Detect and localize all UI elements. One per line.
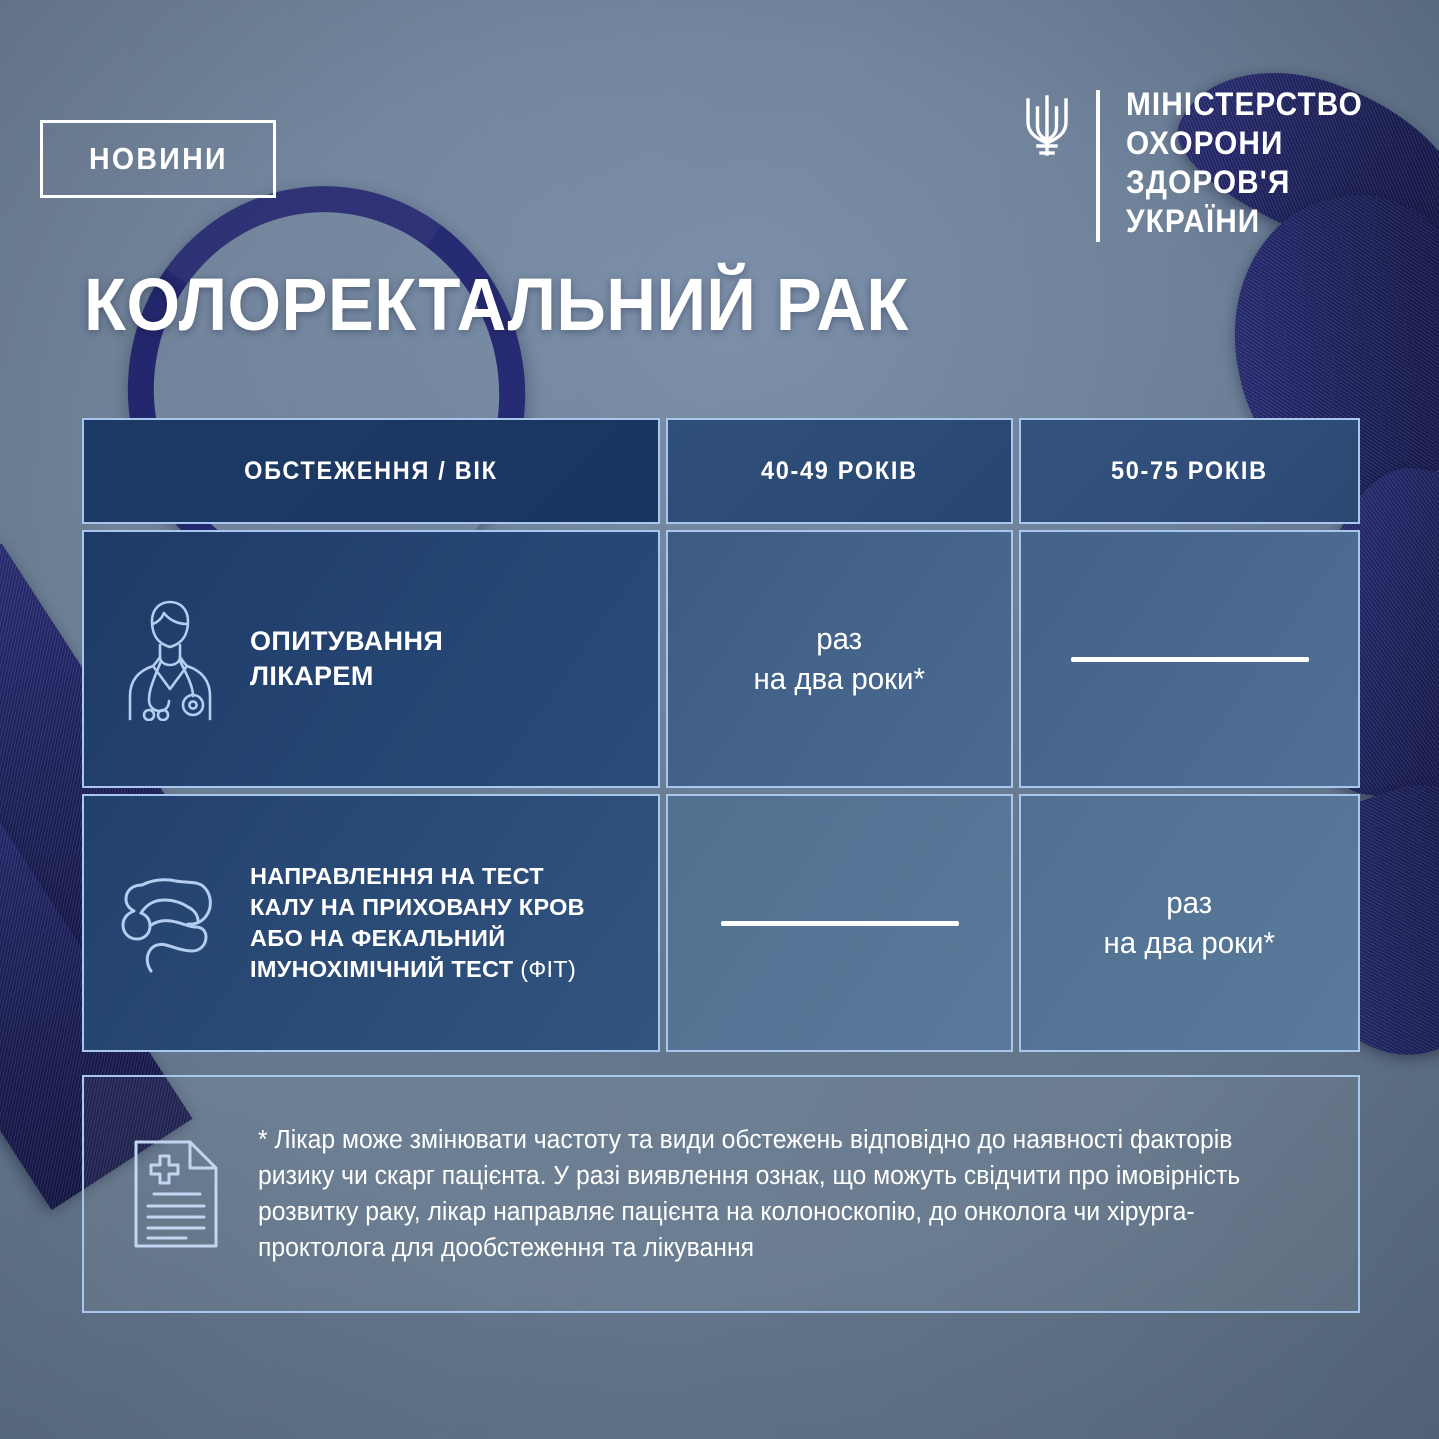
ministry-line-1: МІНІСТЕРСТВО — [1126, 86, 1363, 123]
poster-canvas: НОВИНИ МІНІСТЕРСТВО ОХОРОНИ ЗДОРОВ'Я УКР… — [0, 0, 1439, 1439]
header-cell-examination: ОБСТЕЖЕННЯ / ВІК — [82, 418, 660, 524]
row-2-label-line-1: НАПРАВЛЕННЯ НА ТЕСТ — [250, 863, 544, 889]
table-row: НАПРАВЛЕННЯ НА ТЕСТ КАЛУ НА ПРИХОВАНУ КР… — [82, 794, 1360, 1052]
row-2-value-50-75: раз на два роки* — [1019, 794, 1360, 1052]
header-label-age-40-49: 40-49 РОКІВ — [761, 457, 918, 486]
table-header-row: ОБСТЕЖЕННЯ / ВІК 40-49 РОКІВ 50-75 РОКІВ — [82, 418, 1360, 524]
row-1-examination-cell: ОПИТУВАННЯ ЛІКАРЕМ — [82, 530, 660, 788]
row-1-label-line-2: ЛІКАРЕМ — [250, 661, 374, 691]
row-2-label: НАПРАВЛЕННЯ НА ТЕСТ КАЛУ НА ПРИХОВАНУ КР… — [250, 861, 585, 986]
header-label-examination: ОБСТЕЖЕННЯ / ВІК — [244, 457, 498, 486]
doctor-stethoscope-icon — [116, 597, 224, 721]
row-2-label-line-2: КАЛУ НА ПРИХОВАНУ КРОВ — [250, 894, 585, 920]
header-cell-age-50-75: 50-75 РОКІВ — [1019, 418, 1360, 524]
logo-divider — [1096, 90, 1100, 242]
row-1-value-40-49: раз на два роки* — [666, 530, 1013, 788]
row-1-label: ОПИТУВАННЯ ЛІКАРЕМ — [250, 624, 443, 694]
ministry-line-3: ЗДОРОВ'Я — [1126, 164, 1363, 201]
row-2-frequency-50-75: раз на два роки* — [1104, 883, 1275, 964]
footnote-text: * Лікар може змінювати частоту та види о… — [258, 1122, 1290, 1267]
ministry-line-4: УКРАЇНИ — [1126, 203, 1363, 240]
news-badge-label: НОВИНИ — [89, 141, 228, 177]
intestine-colon-icon — [116, 867, 224, 979]
footnote-box: * Лікар може змінювати частоту та види о… — [82, 1075, 1360, 1313]
row-2-examination-cell: НАПРАВЛЕННЯ НА ТЕСТ КАЛУ НА ПРИХОВАНУ КР… — [82, 794, 660, 1052]
row-1-frequency-40-49: раз на два роки* — [754, 619, 925, 700]
row-1-label-line-1: ОПИТУВАННЯ — [250, 626, 443, 656]
row-2-value-40-49 — [666, 794, 1013, 1052]
header-label-age-50-75: 50-75 РОКІВ — [1111, 457, 1268, 486]
ministry-name: МІНІСТЕРСТВО ОХОРОНИ ЗДОРОВ'Я УКРАЇНИ — [1126, 86, 1381, 240]
row-2-freq-line-2: на два роки* — [1104, 925, 1275, 960]
header-cell-age-40-49: 40-49 РОКІВ — [666, 418, 1013, 524]
ministry-line-2: ОХОРОНИ — [1126, 125, 1363, 162]
row-1-freq-line-2: на два роки* — [754, 661, 925, 696]
row-2-label-line-3: АБО НА ФЕКАЛЬНИЙ — [250, 925, 505, 951]
row-1-dash-50-75 — [1071, 657, 1309, 662]
screening-table: ОБСТЕЖЕННЯ / ВІК 40-49 РОКІВ 50-75 РОКІВ — [82, 418, 1360, 1052]
row-1-freq-line-1: раз — [817, 621, 863, 656]
row-2-dash-40-49 — [721, 921, 959, 926]
page-title: КОЛОРЕКТАЛЬНИЙ РАК — [84, 268, 909, 342]
row-2-label-suffix: (ФІТ) — [513, 956, 576, 982]
row-2-label-line-4: ІМУНОХІМІЧНИЙ ТЕСТ — [250, 956, 513, 982]
row-1-value-50-75 — [1019, 530, 1360, 788]
ministry-logo: МІНІСТЕРСТВО ОХОРОНИ ЗДОРОВ'Я УКРАЇНИ — [1018, 86, 1381, 242]
news-badge: НОВИНИ — [40, 120, 276, 198]
row-2-freq-line-1: раз — [1167, 885, 1213, 920]
table-row: ОПИТУВАННЯ ЛІКАРЕМ раз на два роки* — [82, 530, 1360, 788]
medical-document-icon — [124, 1134, 228, 1254]
ukraine-trident-icon — [1018, 88, 1076, 162]
